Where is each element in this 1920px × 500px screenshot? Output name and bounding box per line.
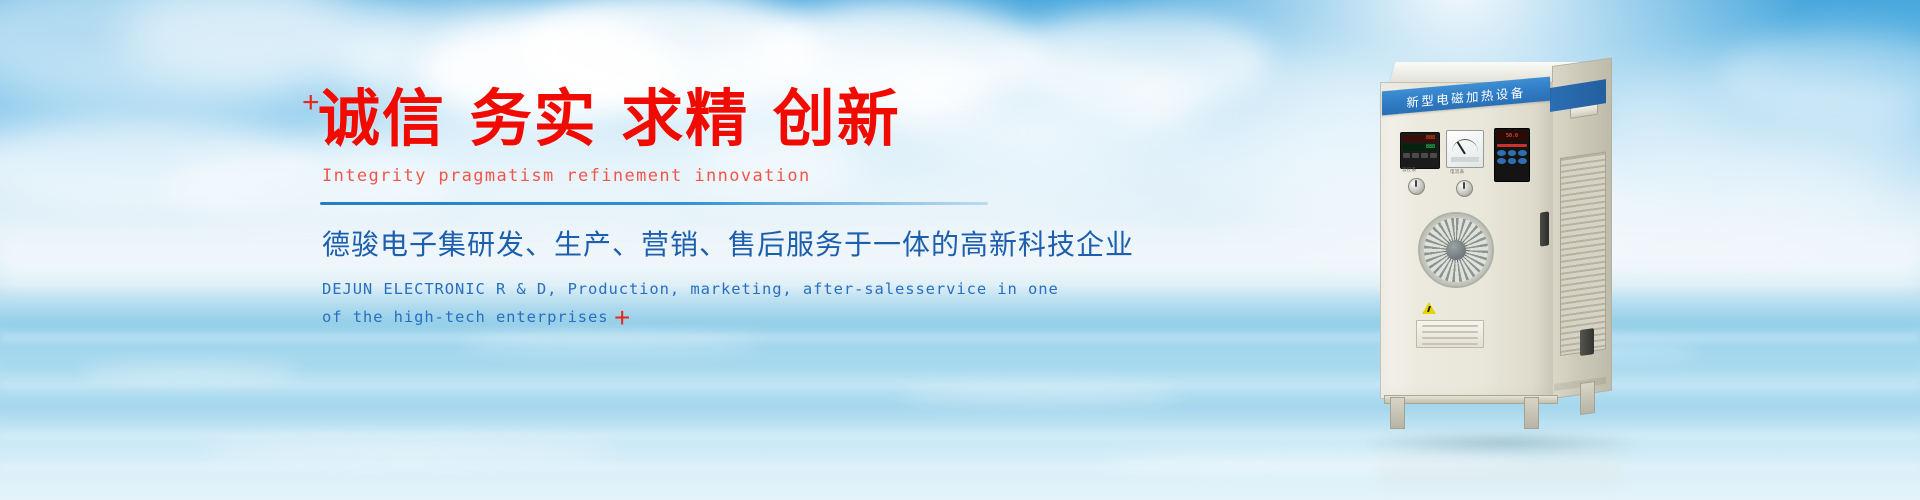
warning-label-icon <box>1422 302 1436 315</box>
machine-leg <box>1580 381 1595 415</box>
temp-controller-label: 温控表 <box>1402 167 1416 173</box>
water-glint <box>200 440 620 460</box>
fan-hub <box>1446 240 1466 260</box>
tagline-english-line-2: of the high-tech enterprises <box>322 303 1018 332</box>
machine-leg <box>1390 397 1405 429</box>
spec-plate <box>1416 320 1484 348</box>
water-glint <box>80 364 300 380</box>
side-handle[interactable] <box>1580 328 1594 356</box>
analog-meter <box>1446 130 1484 168</box>
promotional-banner: + + 诚信 务实 求精 创新 Integrity pragmatism ref… <box>0 0 1920 500</box>
machine-leg <box>1524 397 1539 429</box>
cloud-shape <box>1600 60 1920 180</box>
plus-decoration-icon: + <box>614 304 630 332</box>
banner-headline: 诚信 务实 求精 创新 <box>318 86 1018 152</box>
meter-scale-arc <box>1452 139 1478 152</box>
product-machine: 新型电磁加热设备 888 888 温控表 电流表 50.0 <box>1374 62 1624 442</box>
banner-tagline-english: DEJUN ELECTRONIC R & D, Production, mark… <box>322 275 1018 332</box>
cloud-shape <box>1010 10 1270 110</box>
tagline-english-line-1: DEJUN ELECTRONIC R & D, Production, mark… <box>322 275 1018 304</box>
fan-vent-icon <box>1418 212 1494 288</box>
water-glint <box>460 336 760 350</box>
keypad-red-strip <box>1497 144 1527 147</box>
temp-display-lower: 888 <box>1403 144 1437 151</box>
wave-line <box>0 465 1920 470</box>
wave-line <box>0 408 1920 414</box>
rotary-knob[interactable] <box>1456 180 1473 197</box>
water-glint <box>900 386 1180 404</box>
meter-label-band <box>1451 157 1479 162</box>
cloud-shape <box>0 120 320 210</box>
ventilation-grille <box>1560 152 1606 356</box>
temperature-controller[interactable]: 888 888 <box>1400 132 1440 169</box>
rotary-knob[interactable] <box>1408 178 1425 195</box>
control-keypad[interactable]: 50.0 <box>1494 128 1530 182</box>
cloud-shape <box>1720 30 1920 120</box>
temp-buttons[interactable] <box>1403 153 1437 158</box>
wave-line <box>0 362 1920 368</box>
divider-line <box>320 202 988 205</box>
keypad-display: 50.0 <box>1497 131 1527 142</box>
banner-tagline-chinese: 德骏电子集研发、生产、营销、售后服务于一体的高新科技企业 <box>322 223 1018 263</box>
keypad-buttons[interactable] <box>1497 150 1527 164</box>
meter-label: 电流表 <box>1450 169 1464 175</box>
temp-display-upper: 888 <box>1403 135 1437 142</box>
door-handle[interactable] <box>1540 211 1549 246</box>
wave-line <box>0 335 1920 340</box>
banner-headline-english: Integrity pragmatism refinement innovati… <box>322 166 1018 186</box>
plus-decoration-icon: + <box>302 88 320 118</box>
banner-text-block: 诚信 务实 求精 创新 Integrity pragmatism refinem… <box>318 86 1018 332</box>
cloud-shape <box>120 0 420 90</box>
